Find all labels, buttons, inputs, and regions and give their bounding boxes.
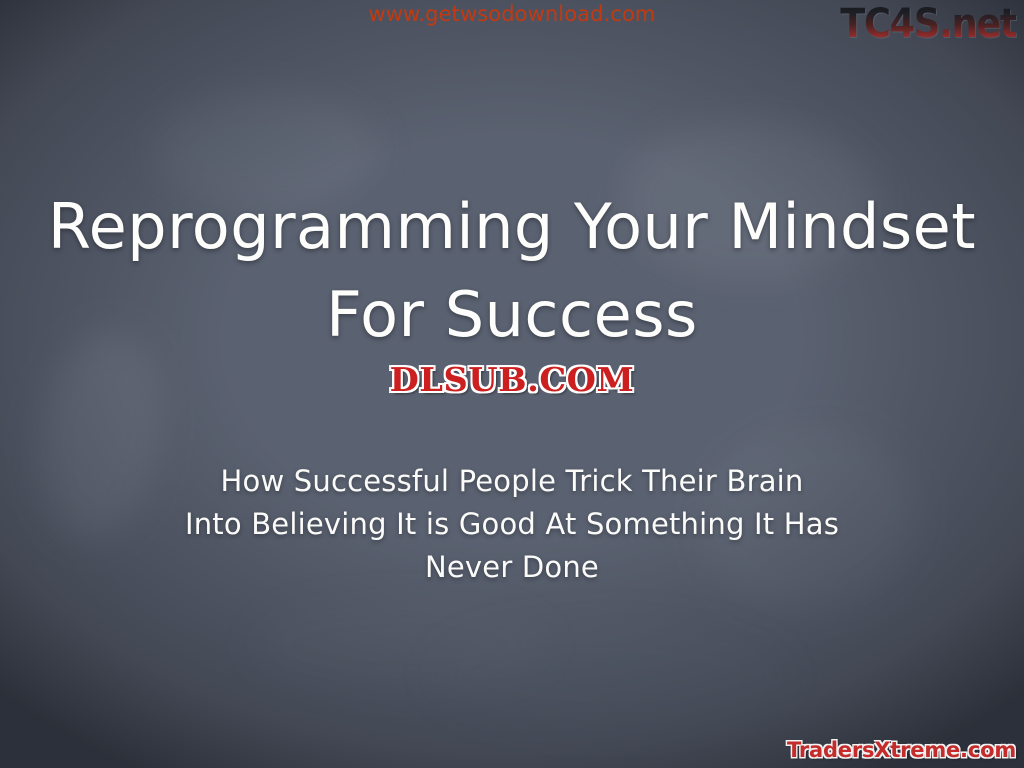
presentation-slide: www.getwsodownload.com TC4S.net Reprogra… — [0, 0, 1024, 768]
tc4s-logo-watermark: TC4S.net — [840, 1, 1016, 47]
page-subtitle-line-3: Never Done — [0, 546, 1024, 589]
page-subtitle: How Successful People Trick Their Brain … — [0, 460, 1024, 589]
page-subtitle-line-1: How Successful People Trick Their Brain — [0, 460, 1024, 503]
page-subtitle-line-2: Into Believing It is Good At Something I… — [0, 503, 1024, 546]
dlsub-badge-label: DLSUB.COM — [390, 360, 635, 399]
page-title-line-2: For Success — [0, 271, 1024, 359]
page-title-line-1: Reprogramming Your Mindset — [0, 183, 1024, 271]
page-title: Reprogramming Your Mindset For Success — [0, 183, 1024, 359]
bottom-watermark-url: TradersXtreme.com — [787, 738, 1016, 762]
dlsub-badge-watermark: DLSUB.COM — [0, 360, 1024, 399]
